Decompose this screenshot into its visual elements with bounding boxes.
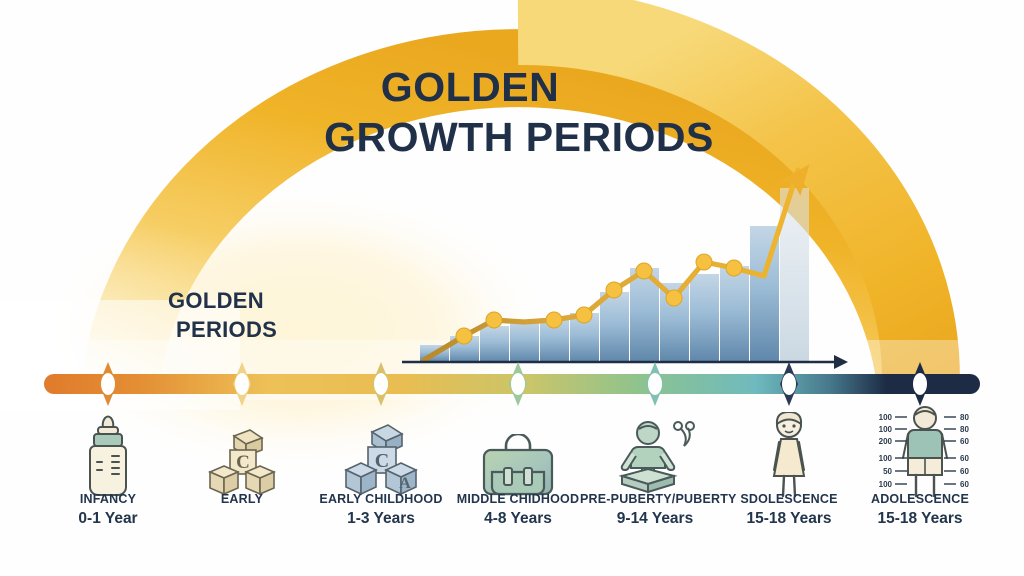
measure-left-5: 100	[879, 480, 893, 489]
label-name-1: EARLY	[167, 492, 317, 508]
icon-slot-early: C	[182, 404, 302, 500]
measure-left-0: 100	[879, 413, 893, 422]
girl-figure-icon	[759, 412, 819, 500]
boy-measure-icon: 100 100 200 100 50 100 80 80 60 60 60 60	[862, 406, 988, 500]
blocks-blue-icon: C A	[340, 422, 422, 500]
block-letter-c: C	[236, 452, 250, 473]
label-early-childhood: EARLY CHILDHOOD 1-3 Years	[306, 492, 456, 530]
label-infancy: INFANCY 0-1 Year	[33, 492, 183, 530]
label-age-5: 15-18 Years	[714, 509, 864, 530]
icon-slot-pre-puberty	[595, 404, 715, 500]
icon-slot-adolescence: 100 100 200 100 50 100 80 80 60 60 60 60	[860, 404, 990, 500]
child-crafts-icon	[612, 420, 698, 500]
label-name-2: EARLY CHILDHOOD	[306, 492, 456, 508]
label-name-4: PRE-PUBERTY/PUBERTY	[580, 492, 730, 508]
subtitle-line-1: GOLDEN	[168, 288, 264, 313]
label-name-3: MIDDLE CHIDHOOD	[443, 492, 593, 508]
measure-right-3: 60	[960, 454, 969, 463]
label-adolescence: ADOLESCENCE 15-18 Years	[845, 492, 995, 530]
measure-left-1: 100	[879, 425, 893, 434]
icon-slot-early-childhood: C A	[321, 404, 441, 500]
label-name-6: ADOLESCENCE	[845, 492, 995, 508]
stage-labels-row: INFANCY 0-1 Year EARLY EARLY CHILDHOOD 1…	[0, 492, 1024, 542]
stage-icons-row: C C A	[0, 400, 1024, 500]
measure-right-5: 60	[960, 480, 969, 489]
subtitle-line-2: PERIODS	[176, 315, 277, 344]
icon-slot-infancy	[48, 404, 168, 500]
label-sdolescence: SDOLESCENCE 15-18 Years	[714, 492, 864, 530]
school-bag-icon	[478, 434, 558, 500]
baby-bottle-icon	[81, 414, 135, 500]
measure-left-2: 200	[879, 437, 893, 446]
measure-right-4: 60	[960, 467, 969, 476]
measure-right-1: 80	[960, 425, 969, 434]
measure-right-0: 80	[960, 413, 969, 422]
label-early: EARLY	[167, 492, 317, 509]
label-age-2: 1-3 Years	[306, 509, 456, 530]
label-pre-puberty: PRE-PUBERTY/PUBERTY 9-14 Years	[580, 492, 730, 530]
label-age-4: 9-14 Years	[580, 509, 730, 530]
label-age-0: 0-1 Year	[33, 509, 183, 530]
blocks-cream-icon: C	[204, 428, 280, 500]
label-age-6: 15-18 Years	[845, 509, 995, 530]
block-letter-a: A	[399, 475, 411, 492]
label-name-0: INFANCY	[33, 492, 183, 508]
icon-slot-middle-childhood	[458, 404, 578, 500]
infographic-canvas: GOLDEN GROWTH PERIODS GOLDEN PERIODS	[0, 0, 1024, 576]
icon-slot-sdolescence	[729, 404, 849, 500]
label-name-5: SDOLESCENCE	[714, 492, 864, 508]
measure-left-4: 50	[883, 467, 892, 476]
label-middle-childhood: MIDDLE CHIDHOOD 4-8 Years	[443, 492, 593, 530]
label-age-3: 4-8 Years	[443, 509, 593, 530]
growth-chart-svg	[398, 140, 850, 378]
measure-right-2: 60	[960, 437, 969, 446]
growth-chart	[398, 140, 850, 378]
title-line-1: GOLDEN	[0, 62, 1024, 112]
subtitle-golden-periods: GOLDEN PERIODS	[168, 286, 277, 345]
measure-left-3: 100	[879, 454, 893, 463]
